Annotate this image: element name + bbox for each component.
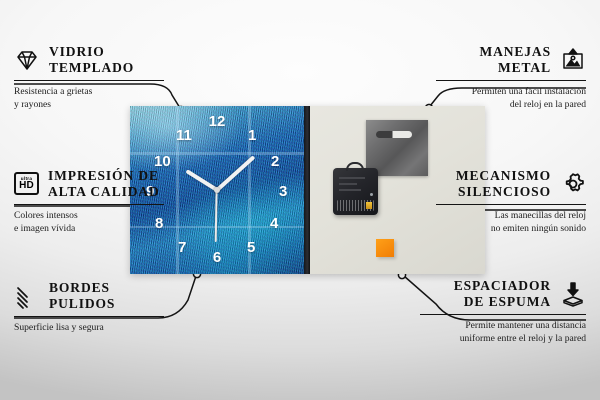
- callout-desc-line1: Superficie lisa y segura: [14, 322, 164, 335]
- product-photo: 12 1 2 3 4 5 6 7 8 9 10 11: [130, 106, 485, 274]
- callout-desc-line2: no emiten ningún sonido: [436, 223, 586, 236]
- callout-desc-line1: Las manecillas del reloj: [436, 210, 586, 223]
- callout-title-line1: MECANISMO: [456, 168, 551, 184]
- movement-detail: [339, 183, 357, 185]
- battery-terminal: [366, 202, 372, 209]
- clock-numeral-5: 5: [247, 240, 255, 255]
- callout-desc-line1: Permiten una fácil instalación: [436, 86, 586, 99]
- foam-spacer-icon: [560, 281, 586, 307]
- polished-edges-icon: [14, 283, 40, 309]
- movement-detail: [370, 193, 373, 196]
- movement-detail: [339, 189, 361, 191]
- clock-numeral-6: 6: [213, 250, 221, 265]
- callout-rule: [420, 314, 586, 316]
- callout-espaciador-espuma: ESPACIADOR DE ESPUMA Permite mantener un…: [420, 278, 586, 346]
- picture-frame-icon: [560, 47, 586, 73]
- ultra-hd-large-text: HD: [19, 181, 34, 191]
- clock-center-cap: [214, 187, 220, 193]
- clock-numeral-10: 10: [154, 154, 171, 169]
- ultra-hd-icon: ultra HD: [14, 172, 39, 195]
- callout-desc-line1: Permite mantener una distancia: [420, 320, 586, 333]
- callout-desc-line2: uniforme entre el reloj y la pared: [420, 333, 586, 346]
- callout-mecanismo-silencioso: MECANISMO SILENCIOSO Las manecillas del …: [436, 168, 586, 236]
- callout-rule: [436, 204, 586, 206]
- callout-header: ESPACIADOR DE ESPUMA: [420, 278, 586, 310]
- callout-rule: [14, 80, 164, 82]
- clock-numeral-4: 4: [270, 216, 278, 231]
- diamond-icon: [14, 47, 40, 73]
- callout-title-line1: VIDRIO: [49, 44, 134, 60]
- callout-title-line2: TEMPLADO: [49, 60, 134, 76]
- callout-header: ultra HD IMPRESIÓN DE ALTA CALIDAD: [14, 168, 164, 200]
- callout-desc-line1: Resistencia a grietas: [14, 86, 164, 99]
- callout-title-line1: MANEJAS: [479, 44, 551, 60]
- callout-title-line2: PULIDOS: [49, 296, 115, 312]
- callout-rule: [14, 316, 164, 318]
- gear-icon: [560, 171, 586, 197]
- battery: [337, 200, 374, 211]
- infographic-canvas: 12 1 2 3 4 5 6 7 8 9 10 11: [0, 0, 600, 400]
- callout-header: VIDRIO TEMPLADO: [14, 44, 164, 76]
- hanger-slot: [376, 131, 412, 138]
- clock-numeral-2: 2: [271, 154, 279, 169]
- callout-title-line1: BORDES: [49, 280, 115, 296]
- callout-title-line1: ESPACIADOR: [454, 278, 551, 294]
- callout-desc-line2: del reloj en la pared: [436, 99, 586, 112]
- quartz-movement: [333, 168, 378, 215]
- callout-title-line2: SILENCIOSO: [456, 184, 551, 200]
- callout-manejas-metal: MANEJAS METAL Permiten una fácil instala…: [436, 44, 586, 112]
- callout-impresion-hd: ultra HD IMPRESIÓN DE ALTA CALIDAD Color…: [14, 168, 164, 236]
- clock-numeral-12: 12: [209, 114, 226, 129]
- callout-rule: [14, 204, 164, 206]
- callout-desc-line2: y rayones: [14, 99, 164, 112]
- callout-header: MANEJAS METAL: [436, 44, 586, 76]
- callout-title-line2: METAL: [479, 60, 551, 76]
- callout-title-line2: DE ESPUMA: [454, 294, 551, 310]
- callout-vidrio-templado: VIDRIO TEMPLADO Resistencia a grietas y …: [14, 44, 164, 112]
- movement-detail: [339, 177, 365, 179]
- callout-header: BORDES PULIDOS: [14, 280, 164, 312]
- clock-numeral-1: 1: [248, 128, 256, 143]
- callout-title-line1: IMPRESIÓN DE: [48, 168, 160, 184]
- clock-numeral-3: 3: [279, 184, 287, 199]
- callout-header: MECANISMO SILENCIOSO: [436, 168, 586, 200]
- movement-hanger-loop: [346, 162, 364, 171]
- clock-numeral-11: 11: [176, 128, 192, 143]
- clock-numeral-7: 7: [178, 240, 186, 255]
- callout-desc-line2: e imagen vívida: [14, 223, 164, 236]
- callout-bordes-pulidos: BORDES PULIDOS Superficie lisa y segura: [14, 280, 164, 335]
- callout-title-line2: ALTA CALIDAD: [48, 184, 160, 200]
- callout-rule: [436, 80, 586, 82]
- callout-desc-line1: Colores intensos: [14, 210, 164, 223]
- foam-spacer: [376, 239, 394, 257]
